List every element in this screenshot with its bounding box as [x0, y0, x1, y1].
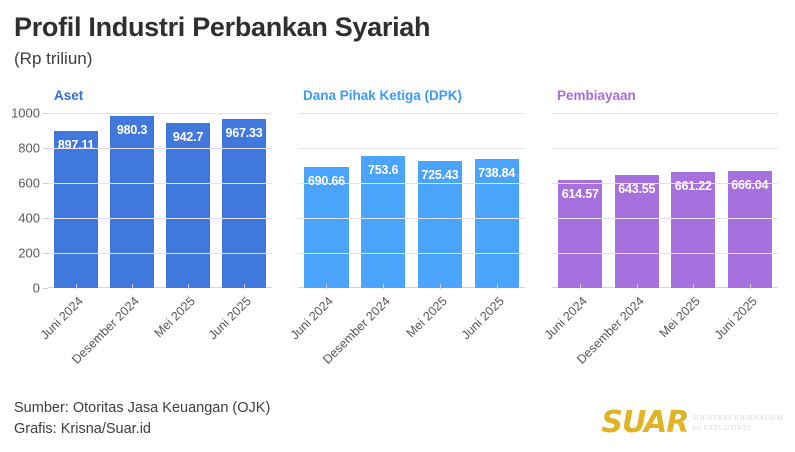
gridline [552, 253, 778, 254]
x-tick-slot: Juni 2025 [722, 288, 779, 358]
gridline [48, 253, 272, 254]
bar-slot: 753.6 [355, 113, 412, 288]
y-tick-label: 200 [18, 246, 40, 261]
panel-title-aset: Aset [54, 88, 83, 103]
y-tick-mark [43, 253, 48, 254]
chart-panels: Aset 897.11980.3942.7967.33 020040060080… [0, 88, 795, 378]
bar-slot: 643.55 [609, 113, 666, 288]
x-tick-labels-pembiayaan: Juni 2024Desember 2024Mei 2025Juni 2025 [552, 288, 778, 368]
bar-group-aset: 897.11980.3942.7967.33 [48, 113, 272, 288]
y-tick-mark [43, 218, 48, 219]
plot-area-aset: 897.11980.3942.7967.33 02004006008001000 [48, 113, 272, 288]
chart-panel-dpk: Dana Pihak Ketiga (DPK) 690.66753.6725.4… [280, 88, 533, 378]
gridline [48, 148, 272, 149]
chart-panel-pembiayaan: Pembiayaan 614.57643.55661.22666.04 Juni… [533, 88, 795, 378]
bar-slot: 942.7 [160, 113, 216, 288]
plot-area-dpk: 690.66753.6725.43738.84 [298, 113, 525, 288]
bar-value-label: 690.66 [308, 174, 345, 188]
bar-group-dpk: 690.66753.6725.43738.84 [298, 113, 525, 288]
gridline [552, 148, 778, 149]
logo-tagline-line1: SOLUTION JOURNALISM [692, 413, 783, 423]
figure-header: Profil Industri Perbankan Syariah (Rp tr… [14, 12, 774, 69]
gridline [48, 218, 272, 219]
logo-tagline: SOLUTION JOURNALISM for EXECUTIVES [692, 413, 783, 433]
plot-area-pembiayaan: 614.57643.55661.22666.04 [552, 113, 778, 288]
bar-value-label: 753.6 [368, 163, 398, 177]
bar[interactable]: 967.33 [222, 119, 266, 288]
bar-value-label: 614.57 [562, 187, 599, 201]
x-tick-mark [693, 284, 694, 289]
x-tick-label: Juni 2024 [38, 294, 86, 342]
bar[interactable]: 725.43 [418, 161, 462, 288]
bar-slot: 897.11 [48, 113, 104, 288]
bar-value-label: 980.3 [117, 123, 147, 137]
bar-value-label: 725.43 [421, 168, 458, 182]
x-tick-slot: Juni 2025 [468, 288, 525, 358]
gridline [48, 183, 272, 184]
x-tick-mark [244, 284, 245, 289]
bar-slot: 661.22 [665, 113, 722, 288]
x-tick-mark [750, 284, 751, 289]
bar-slot: 967.33 [216, 113, 272, 288]
logo-wordmark: SUAR [601, 408, 688, 438]
bar-group-pembiayaan: 614.57643.55661.22666.04 [552, 113, 778, 288]
x-tick-slot: Mei 2025 [665, 288, 722, 358]
bar-value-label: 643.55 [618, 182, 655, 196]
x-tick-mark [497, 284, 498, 289]
x-tick-mark [637, 284, 638, 289]
credit-note: Grafis: Krisna/Suar.id [14, 419, 270, 440]
panel-title-dpk: Dana Pihak Ketiga (DPK) [303, 88, 462, 103]
gridline [552, 218, 778, 219]
x-tick-mark [580, 284, 581, 289]
bar[interactable]: 643.55 [615, 175, 659, 288]
x-tick-mark [383, 284, 384, 289]
bar-value-label: 738.84 [478, 166, 515, 180]
bar[interactable]: 614.57 [558, 180, 602, 288]
gridline [552, 113, 778, 114]
bar[interactable]: 980.3 [110, 116, 154, 288]
figure-footer: Sumber: Otoritas Jasa Keuangan (OJK) Gra… [14, 398, 270, 440]
y-tick-mark [43, 113, 48, 114]
bar-slot: 725.43 [412, 113, 469, 288]
bar[interactable]: 690.66 [304, 167, 348, 288]
bar[interactable]: 738.84 [475, 159, 519, 288]
bar-value-label: 897.11 [58, 138, 94, 152]
gridline [298, 183, 525, 184]
x-tick-label: Juni 2024 [288, 294, 336, 342]
bar[interactable]: 897.11 [54, 131, 98, 288]
bar-value-label: 661.22 [675, 179, 712, 193]
x-tick-mark [440, 284, 441, 289]
x-tick-mark [188, 284, 189, 289]
gridline [298, 253, 525, 254]
y-tick-label: 600 [18, 176, 40, 191]
chart-panel-aset: Aset 897.11980.3942.7967.33 020040060080… [0, 88, 280, 378]
chart-figure: Profil Industri Perbankan Syariah (Rp tr… [0, 0, 795, 452]
gridline [48, 113, 272, 114]
bar-slot: 690.66 [298, 113, 355, 288]
x-tick-slot: Desember 2024 [609, 288, 666, 358]
y-tick-label: 800 [18, 141, 40, 156]
panel-title-pembiayaan: Pembiayaan [557, 88, 636, 103]
bar-slot: 980.3 [104, 113, 160, 288]
x-tick-mark [76, 284, 77, 289]
bar-slot: 666.04 [722, 113, 779, 288]
bar-value-label: 942.7 [173, 130, 203, 144]
y-tick-label: 1000 [11, 106, 40, 121]
bar-slot: 738.84 [468, 113, 525, 288]
gridline [298, 148, 525, 149]
logo-tagline-for: for [692, 423, 701, 432]
bar[interactable]: 753.6 [361, 156, 405, 288]
logo-tagline-line2: for EXECUTIVES [692, 423, 783, 433]
page-subtitle: (Rp triliun) [14, 49, 774, 69]
x-tick-mark [132, 284, 133, 289]
gridline [552, 183, 778, 184]
y-tick-label: 400 [18, 211, 40, 226]
bar-value-label: 967.33 [225, 126, 262, 140]
source-note: Sumber: Otoritas Jasa Keuangan (OJK) [14, 398, 270, 419]
gridline [298, 218, 525, 219]
x-tick-mark [326, 284, 327, 289]
gridline [298, 113, 525, 114]
x-tick-slot: Mei 2025 [412, 288, 469, 358]
y-tick-mark [43, 183, 48, 184]
x-tick-label: Juni 2024 [542, 294, 590, 342]
x-tick-slot: Desember 2024 [104, 288, 160, 358]
x-tick-labels-dpk: Juni 2024Desember 2024Mei 2025Juni 2025 [298, 288, 525, 368]
bar[interactable]: 666.04 [728, 171, 772, 288]
bar-value-label: 666.04 [731, 178, 768, 192]
logo-tagline-executives: EXECUTIVES [704, 423, 752, 432]
x-tick-slot: Juni 2025 [216, 288, 272, 358]
bar[interactable]: 661.22 [671, 172, 715, 288]
x-tick-slot: Desember 2024 [355, 288, 412, 358]
page-title: Profil Industri Perbankan Syariah [14, 12, 774, 43]
y-tick-label: 0 [33, 281, 40, 296]
x-tick-slot: Mei 2025 [160, 288, 216, 358]
bar-slot: 614.57 [552, 113, 609, 288]
x-tick-labels-aset: Juni 2024Desember 2024Mei 2025Juni 2025 [48, 288, 272, 368]
suar-logo: SUAR SOLUTION JOURNALISM for EXECUTIVES [601, 408, 783, 438]
y-tick-mark [43, 148, 48, 149]
